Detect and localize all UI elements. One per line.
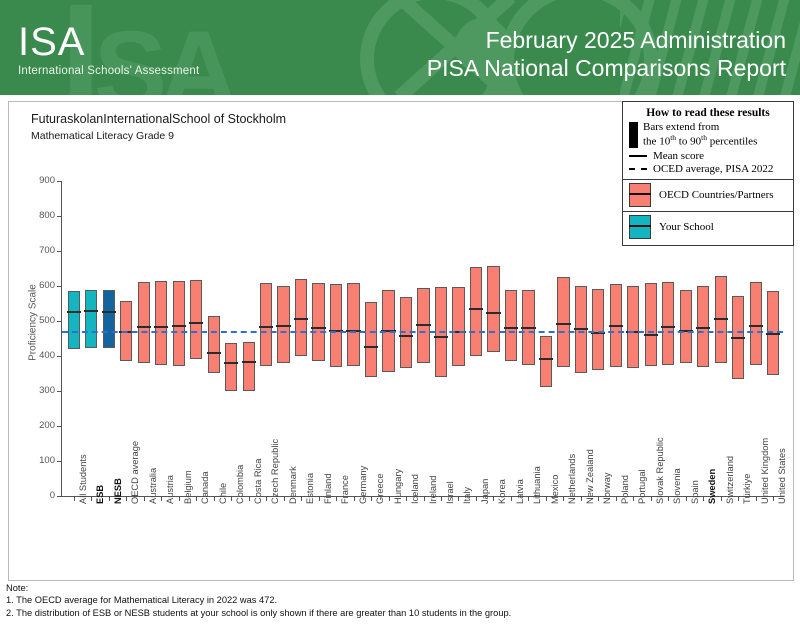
note-heading: Note: (6, 582, 796, 594)
mean-score-line (154, 326, 168, 328)
chart-bar (645, 283, 657, 366)
x-axis-label-estonia: Estonia (305, 473, 315, 504)
mean-score-line (766, 333, 780, 335)
x-axis-tick-mark (91, 497, 92, 501)
oecd-countries-swatch-icon (629, 183, 651, 207)
x-axis-label-italy: Italy (462, 487, 472, 504)
mean-score-line (207, 352, 221, 354)
chart-bar (365, 302, 377, 377)
x-axis-tick-mark (231, 497, 232, 501)
isa-logo: ISA International Schools' Assessment (18, 22, 199, 77)
mean-score-line (67, 311, 81, 313)
y-axis-tick-mark (57, 216, 61, 217)
y-axis-tick-label: 100 (9, 455, 55, 466)
legend-mean-label: Mean score (653, 150, 704, 162)
x-axis-label-belgium: Belgium (183, 470, 193, 504)
x-axis-label-oecd-average: OECD average (130, 441, 140, 504)
x-axis-tick-mark (406, 497, 407, 501)
chart-bar (85, 290, 97, 348)
logo-text: ISA (18, 22, 199, 62)
chart-bar (592, 289, 604, 370)
x-axis-tick-mark (476, 497, 477, 501)
x-axis-label-ireland: Ireland (428, 476, 438, 504)
x-axis-label-australia: Australia (148, 468, 158, 504)
x-axis-label-japan: Japan (480, 479, 490, 504)
x-axis-label-united-states: United States (777, 448, 787, 504)
chart-bar (470, 267, 482, 356)
legend-divider-2 (623, 211, 793, 212)
mean-score-line (696, 327, 710, 329)
x-axis-label-latvia: Latvia (515, 479, 525, 504)
mean-score-line (469, 308, 483, 310)
chart-bar (750, 282, 762, 365)
x-axis-tick-mark (301, 497, 302, 501)
x-axis-label-chile: Chile (218, 483, 228, 504)
legend-oecd-countries-label: OECD Countries/Partners (659, 189, 774, 201)
x-axis-label-all-students: All Students (78, 454, 88, 504)
x-axis-label-hungary: Hungary (393, 469, 403, 504)
note-1: 1. The OECD average for Mathematical Lit… (6, 594, 796, 606)
logo-subtitle: International Schools' Assessment (18, 65, 199, 77)
your-school-swatch-icon (629, 215, 651, 239)
chart-bar (173, 281, 185, 366)
x-axis-tick-mark (686, 497, 687, 501)
mean-score-line (521, 327, 535, 329)
x-axis-tick-mark (721, 497, 722, 501)
x-axis-label-germany: Germany (358, 466, 368, 504)
y-axis-tick-label: 300 (9, 385, 55, 396)
y-axis-tick-label: 500 (9, 315, 55, 326)
y-axis-tick-mark (57, 426, 61, 427)
legend-row-mean: Mean score (629, 150, 787, 162)
x-axis-label-esb: ESB (95, 485, 105, 504)
oecd-average-line (62, 331, 783, 333)
legend-row-your-school: Your School (629, 215, 787, 239)
y-axis-tick-mark (57, 496, 61, 497)
x-axis-label-poland: Poland (620, 475, 630, 504)
x-axis-label-austria: Austria (165, 475, 175, 504)
legend-title: How to read these results (629, 107, 787, 119)
legend-row-oecd-countries: OECD Countries/Partners (629, 183, 787, 207)
mean-score-line (486, 312, 500, 314)
y-axis-tick-mark (57, 181, 61, 182)
legend-bars-line2: the 10th to 90th percentiles (643, 134, 757, 149)
chart-bar (662, 282, 674, 365)
chart-bar (557, 277, 569, 366)
chart-bar (312, 283, 324, 361)
mean-score-line (399, 335, 413, 337)
mean-score-line (731, 337, 745, 339)
mean-score-line (259, 326, 273, 328)
x-axis-tick-mark (633, 497, 634, 501)
x-axis-tick-mark (598, 497, 599, 501)
mean-score-line (661, 326, 675, 328)
y-axis-tick-label: 200 (9, 420, 55, 431)
x-axis-label-united-kingdom: United Kingdom (760, 438, 770, 504)
x-axis-label-costa-rica: Costa Rica (253, 459, 263, 504)
chart-bar (540, 336, 552, 388)
x-axis-label-switzerland: Switzerland (725, 456, 735, 504)
mean-score-line (644, 334, 658, 336)
chart-bar (347, 283, 359, 366)
x-axis-label-israel: Israel (445, 481, 455, 504)
x-axis-label-netherlands: Netherlands (567, 454, 577, 504)
x-axis-tick-mark (284, 497, 285, 501)
chart-bar (138, 282, 150, 363)
x-axis-label-denmark: Denmark (288, 466, 298, 504)
y-axis-tick-label: 800 (9, 210, 55, 221)
x-axis-tick-mark (371, 497, 372, 501)
header-title-block: February 2025 Administration PISA Nation… (427, 26, 786, 82)
legend-row-bars: Bars extend from the 10th to 90th percen… (629, 121, 787, 149)
mean-score-line (294, 318, 308, 320)
note-2: 2. The distribution of ESB or NESB stude… (6, 607, 796, 619)
mean-line-icon (629, 155, 647, 157)
page-header: ISA ISA International Schools' Assessmen… (0, 0, 800, 95)
x-axis-tick-mark (493, 497, 494, 501)
x-axis-tick-mark (458, 497, 459, 501)
mean-score-line (242, 361, 256, 363)
x-axis-tick-mark (528, 497, 529, 501)
chart-bar (452, 287, 464, 367)
x-axis-tick-mark (703, 497, 704, 501)
x-axis-tick-mark (319, 497, 320, 501)
chart-bar (627, 286, 639, 368)
x-axis-tick-mark (738, 497, 739, 501)
y-axis-tick-mark (57, 251, 61, 252)
x-axis-tick-mark (563, 497, 564, 501)
x-axis-tick-mark (354, 497, 355, 501)
y-axis-tick-label: 600 (9, 280, 55, 291)
header-title-line2: PISA National Comparisons Report (427, 54, 786, 82)
x-axis-tick-mark (668, 497, 669, 501)
mean-score-line (714, 318, 728, 320)
chart-bar (155, 281, 167, 365)
x-axis-label-greece: Greece (375, 474, 385, 505)
x-axis-label-t-rkiye: Türkiye (742, 474, 752, 504)
chart-container: FuturaskolanInternationalSchool of Stock… (8, 101, 794, 581)
mean-score-line (504, 327, 518, 329)
y-axis-tick-label: 0 (9, 490, 55, 501)
legend-divider (623, 179, 793, 180)
x-axis-label-portugal: Portugal (637, 469, 647, 504)
chart-bar (487, 266, 499, 353)
legend-row-oecd-avg: OCED average, PISA 2022 (629, 163, 787, 175)
chart-bar (330, 284, 342, 366)
x-axis-label-slovenia: Slovenia (672, 468, 682, 504)
chart-legend: How to read these results Bars extend fr… (622, 101, 794, 246)
oecd-average-dash-icon (629, 168, 647, 170)
x-axis-tick-mark (196, 497, 197, 501)
chart-bar (680, 290, 692, 364)
mean-score-line (539, 358, 553, 360)
x-axis-tick-mark (214, 497, 215, 501)
chart-bar (243, 342, 255, 391)
y-axis-line (61, 181, 62, 496)
chart-bar (505, 290, 517, 361)
mean-score-line (84, 310, 98, 312)
x-axis-label-korea: Korea (497, 479, 507, 504)
mean-score-line (311, 327, 325, 329)
x-axis-tick-mark (109, 497, 110, 501)
mean-score-line (434, 336, 448, 338)
x-axis-label-slovak-republic: Slovak Republic (655, 437, 665, 504)
chart-bar (190, 280, 202, 359)
y-axis-tick-mark (57, 321, 61, 322)
x-axis-label-norway: Norway (602, 472, 612, 504)
y-axis-tick-mark (57, 391, 61, 392)
percentile-bar-icon (629, 122, 638, 148)
header-title-line1: February 2025 Administration (427, 26, 786, 54)
y-axis-tick-label: 400 (9, 350, 55, 361)
chart-bar (68, 291, 80, 349)
x-axis-label-new-zealand: New Zealand (585, 449, 595, 504)
x-axis-label-colombia: Colombia (235, 465, 245, 504)
mean-score-line (749, 325, 763, 327)
x-axis-tick-mark (424, 497, 425, 501)
y-axis-tick-label: 700 (9, 245, 55, 256)
x-axis-tick-mark (546, 497, 547, 501)
mean-score-line (102, 311, 116, 313)
x-axis-tick-mark (126, 497, 127, 501)
mean-score-line (609, 325, 623, 327)
chart-bar (225, 343, 237, 391)
x-axis-label-mexico: Mexico (550, 475, 560, 504)
x-axis-label-nesb: NESB (113, 478, 123, 504)
x-axis-tick-mark (756, 497, 757, 501)
x-axis-label-finland: Finland (323, 474, 333, 505)
y-axis-tick-mark (57, 356, 61, 357)
x-axis-label-sweden: Sweden (707, 469, 717, 504)
x-axis-tick-mark (179, 497, 180, 501)
x-axis-tick-mark (616, 497, 617, 501)
mean-score-line (416, 324, 430, 326)
x-axis-tick-mark (266, 497, 267, 501)
x-axis-tick-mark (144, 497, 145, 501)
y-axis-tick-mark (57, 461, 61, 462)
x-axis-tick-mark (74, 497, 75, 501)
legend-oecd-label: OCED average, PISA 2022 (653, 163, 773, 175)
chart-bar (208, 316, 220, 373)
mean-score-line (189, 322, 203, 324)
mean-score-line (172, 325, 186, 327)
x-axis-label-iceland: Iceland (410, 474, 420, 504)
x-axis-label-canada: Canada (200, 471, 210, 504)
mean-score-line (556, 323, 570, 325)
x-axis-label-spain: Spain (690, 480, 700, 504)
x-axis-tick-mark (441, 497, 442, 501)
y-axis-tick-label: 900 (9, 175, 55, 186)
chart-bar (103, 290, 115, 347)
x-axis-tick-mark (389, 497, 390, 501)
x-axis-label-lithuania: Lithuania (532, 466, 542, 504)
x-axis-tick-mark (773, 497, 774, 501)
x-axis-label-france: France (340, 475, 350, 504)
chart-footnotes: Note: 1. The OECD average for Mathematic… (6, 582, 796, 619)
mean-score-line (276, 325, 290, 327)
mean-score-line (364, 346, 378, 348)
chart-bar (697, 286, 709, 367)
x-axis-tick-mark (249, 497, 250, 501)
x-axis-tick-mark (336, 497, 337, 501)
x-axis-tick-mark (581, 497, 582, 501)
mean-score-line (137, 326, 151, 328)
legend-your-school-label: Your School (659, 221, 714, 233)
x-axis-tick-mark (651, 497, 652, 501)
x-axis-label-czech-republic: Czech Republic (270, 439, 280, 504)
y-axis-tick-mark (57, 286, 61, 287)
x-axis-tick-mark (511, 497, 512, 501)
x-axis-tick-mark (161, 497, 162, 501)
mean-score-line (224, 362, 238, 364)
